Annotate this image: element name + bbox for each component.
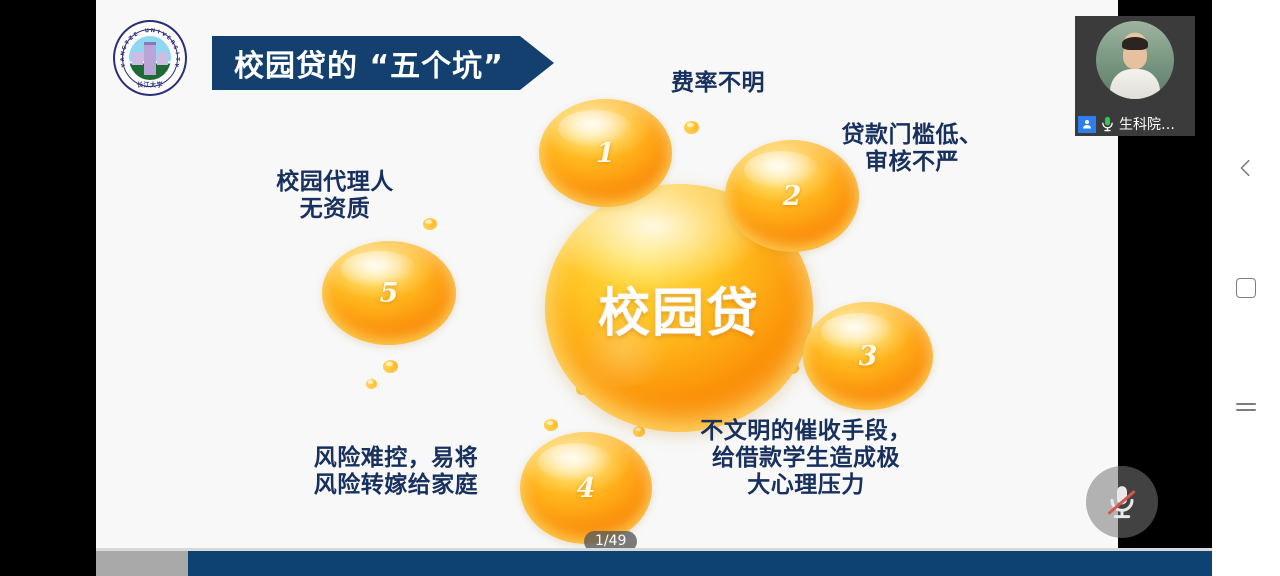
label-bubble-5: 校园代理人 无资质 [237, 169, 433, 223]
page-title: 校园贷的 “五个坑” [234, 41, 504, 85]
nav-home-button[interactable] [1212, 263, 1280, 313]
droplet-icon [366, 379, 377, 389]
slide-title-banner: 校园贷的 “五个坑” [212, 36, 554, 90]
bubble-1-number: 1 [596, 138, 615, 169]
center-bubble-label: 校园贷 [598, 271, 760, 346]
bubble-3-number: 3 [859, 341, 878, 372]
hamburger-menu-icon [1236, 399, 1256, 414]
bubble-4: 4 [520, 432, 652, 544]
rounded-square-icon [1236, 278, 1256, 298]
droplet-icon [544, 419, 558, 431]
participant-video-tile[interactable]: 生科院… [1075, 16, 1195, 136]
label-bubble-4: 风险难控，易将 风险转嫁给家庭 [284, 445, 508, 499]
seal-arc-text: YANGTZE UNIVERSITY [115, 22, 185, 94]
bubble-5-number: 5 [380, 278, 399, 309]
person-icon [1078, 116, 1096, 133]
label-bubble-2: 贷款门槛低、 审核不严 [812, 122, 1012, 176]
banner-arrow-tip [520, 36, 554, 90]
bottom-bar-right-segment [188, 551, 1212, 576]
shared-slide[interactable]: 长江大学 YANGTZE UNIVERSITY 校园贷的 “五个坑” [96, 0, 1118, 548]
chevron-left-icon [1235, 157, 1257, 179]
bubble-1: 1 [539, 99, 672, 207]
bubble-3: 3 [803, 302, 933, 410]
avatar [1096, 21, 1174, 99]
mute-microphone-button[interactable] [1086, 466, 1158, 538]
droplet-icon [383, 360, 398, 373]
microphone-on-icon [1099, 115, 1116, 133]
nav-back-button[interactable] [1212, 143, 1280, 193]
bottom-bar-left-segment [96, 551, 188, 576]
university-seal-logo: 长江大学 YANGTZE UNIVERSITY [113, 20, 187, 96]
droplet-icon [684, 121, 699, 134]
participant-name: 生科院… [1119, 114, 1175, 134]
bubble-5: 5 [322, 241, 456, 345]
android-navigation-bar [1212, 0, 1280, 576]
label-bubble-1: 费率不明 [636, 70, 800, 97]
microphone-muted-icon [1102, 482, 1142, 522]
screen-root: 长江大学 YANGTZE UNIVERSITY 校园贷的 “五个坑” [0, 0, 1280, 576]
bubble-4-number: 4 [577, 473, 596, 504]
label-bubble-3: 不文明的催收手段， 给借款学生造成极 大心理压力 [676, 418, 936, 499]
nav-menu-button[interactable] [1212, 382, 1280, 432]
bubble-2-number: 2 [783, 181, 802, 212]
